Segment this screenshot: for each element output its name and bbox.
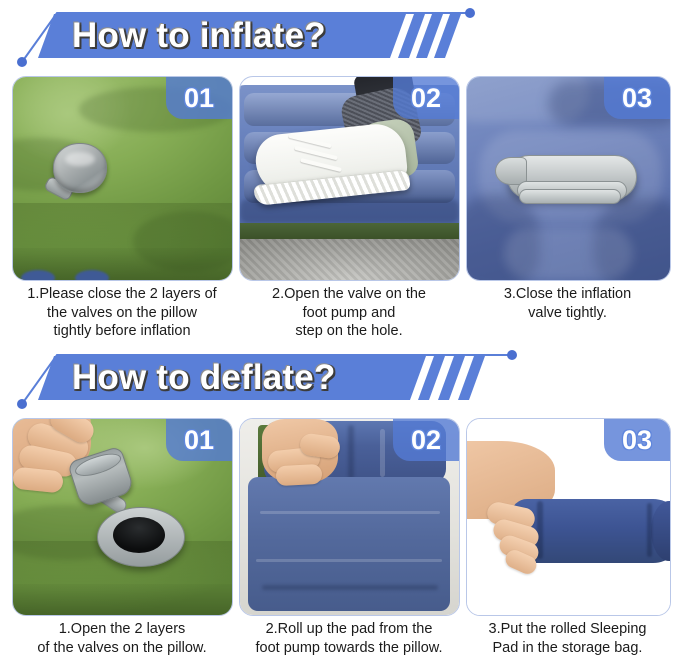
infographic-sheet: How to inflate? 01 1.Please close the 2 … xyxy=(0,0,679,659)
step-card-deflate-2[interactable]: 02 xyxy=(239,418,460,616)
steps-row-deflate: 01 1.Open the 2 layers of the valves on … xyxy=(0,342,679,659)
steps-row-inflate: 01 1.Please close the 2 layers of the va… xyxy=(0,0,679,340)
step-badge-inflate-1: 01 xyxy=(166,77,232,119)
step-badge-deflate-2: 02 xyxy=(393,419,459,461)
step-card-deflate-1[interactable]: 01 xyxy=(12,418,233,616)
step-card-inflate-1[interactable]: 01 xyxy=(12,76,233,281)
step-badge-deflate-3: 03 xyxy=(604,419,670,461)
step-badge-inflate-3: 03 xyxy=(604,77,670,119)
step-caption-deflate-2: 2.Roll up the pad from the foot pump tow… xyxy=(234,620,464,657)
step-caption-deflate-1: 1.Open the 2 layers of the valves on the… xyxy=(6,620,238,657)
step-caption-deflate-3: 3.Put the rolled Sleeping Pad in the sto… xyxy=(460,620,675,657)
step-badge-inflate-2: 02 xyxy=(393,77,459,119)
step-caption-inflate-3: 3.Close the inflation valve tightly. xyxy=(460,285,675,322)
step-card-inflate-3[interactable]: 03 xyxy=(466,76,671,281)
step-card-deflate-3[interactable]: 03 xyxy=(466,418,671,616)
step-caption-inflate-1: 1.Please close the 2 layers of the valve… xyxy=(6,285,238,341)
step-badge-deflate-1: 01 xyxy=(166,419,232,461)
step-card-inflate-2[interactable]: 02 xyxy=(239,76,460,281)
step-caption-inflate-2: 2.Open the valve on the foot pump and st… xyxy=(236,285,462,341)
